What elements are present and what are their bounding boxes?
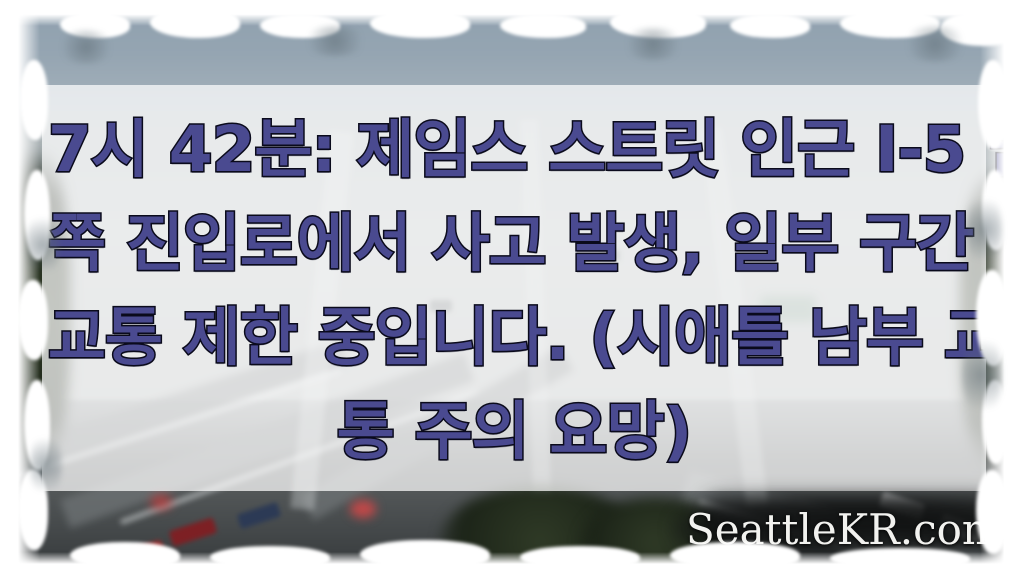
- caption-line-2: 쪽 진입로에서 사고 발생, 일부 구간: [42, 197, 986, 291]
- news-graphic: 7시 42분: 제임스 스트릿 인근 I-5 남 쪽 진입로에서 사고 발생, …: [0, 0, 1024, 576]
- brake-light-glow: [350, 500, 376, 518]
- caption-line-3: 교통 제한 중입니다. (시애틀 남부 교: [42, 291, 986, 385]
- brake-light-glow: [150, 494, 172, 510]
- caption-text-block: 7시 42분: 제임스 스트릿 인근 I-5 남 쪽 진입로에서 사고 발생, …: [42, 85, 986, 491]
- caption-line-1: 7시 42분: 제임스 스트릿 인근 I-5 남: [42, 103, 986, 197]
- caption-line-4: 통 주의 요망): [42, 385, 986, 479]
- watermark-seattlekr: SeattleKR.com: [686, 506, 1016, 554]
